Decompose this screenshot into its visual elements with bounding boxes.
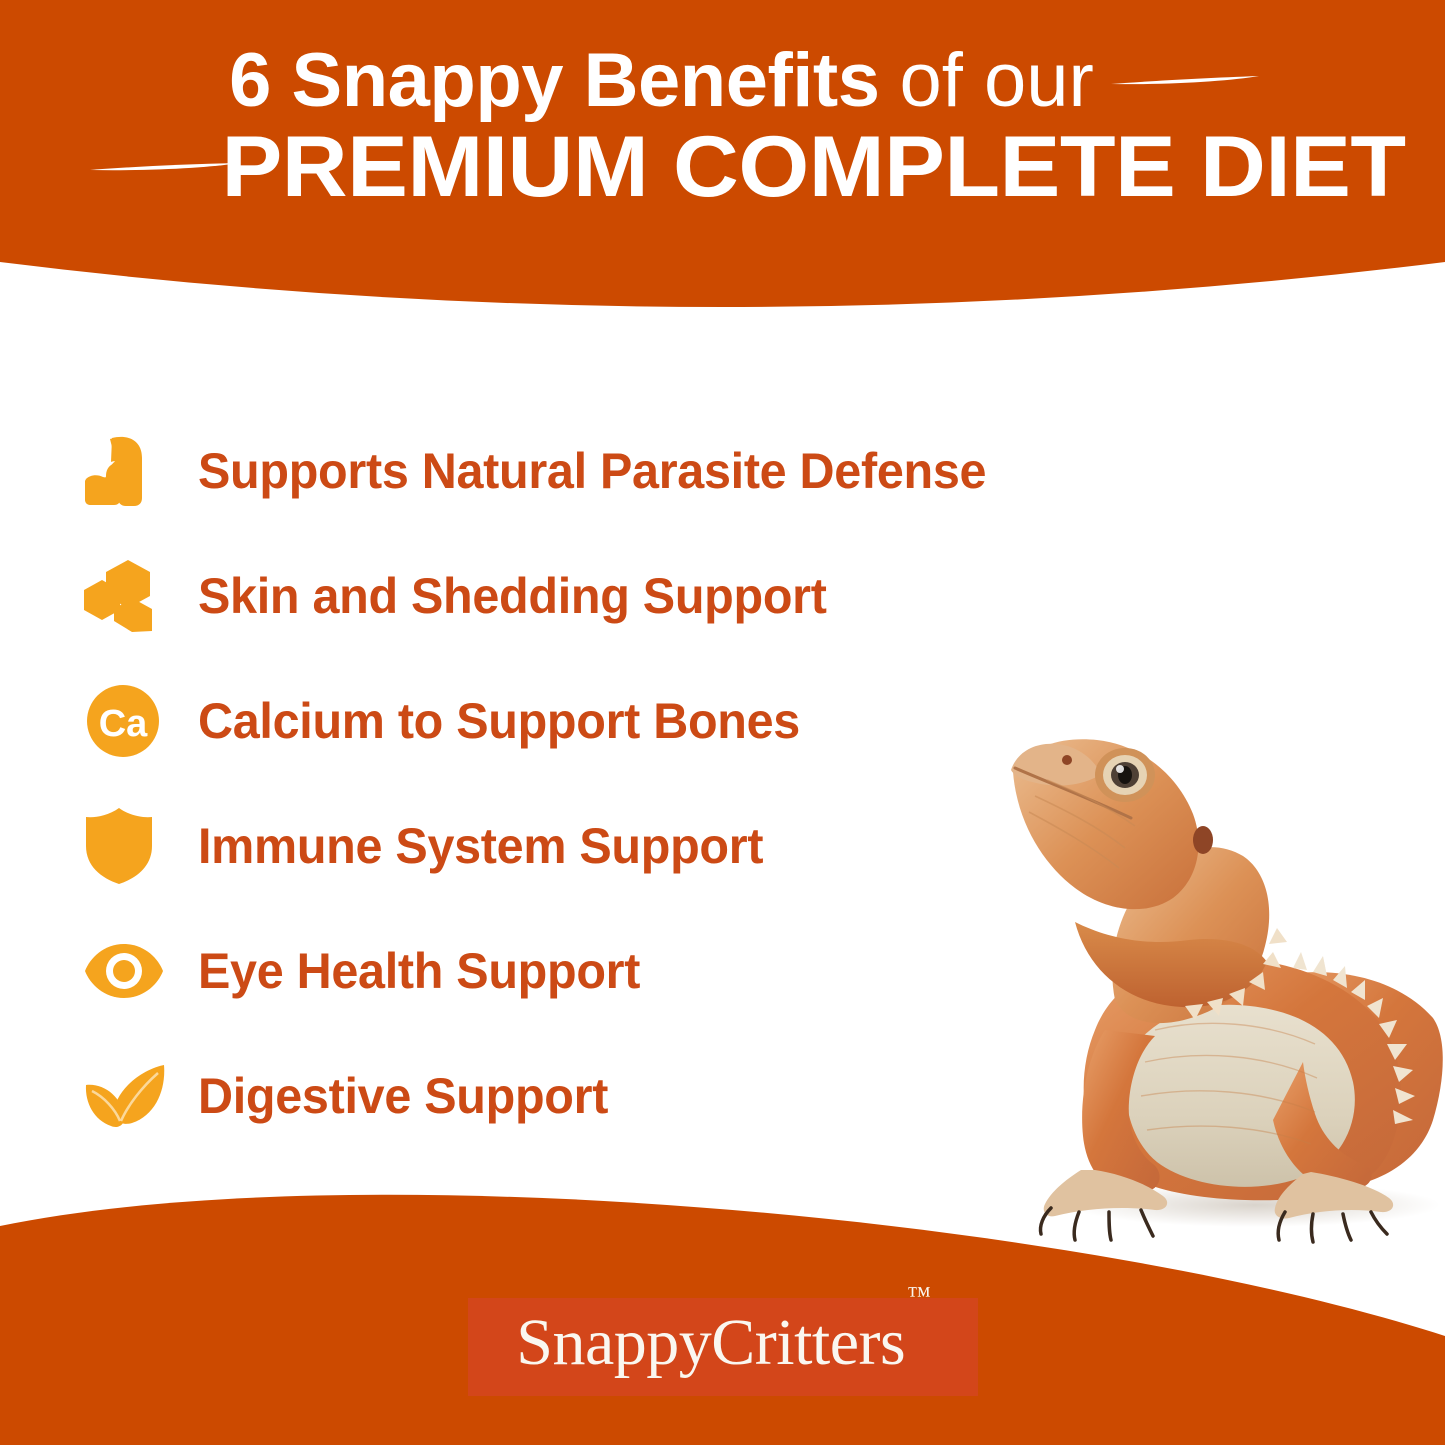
benefit-item-digestive: Digestive Support (84, 1033, 1214, 1158)
benefit-item-parasite-defense: Supports Natural Parasite Defense (84, 408, 1214, 533)
honeycomb-hexagons-icon (84, 558, 176, 634)
brand-name-text: SnappyCritters (516, 1305, 905, 1381)
benefit-label: Eye Health Support (198, 942, 640, 1000)
headline-light-part: of our (900, 42, 1094, 120)
shield-icon (84, 806, 176, 886)
header-banner: 6 Snappy Benefits of our PREMIUM COMPLET… (0, 0, 1445, 345)
trademark-symbol: ™ (907, 1283, 931, 1310)
benefits-list: Supports Natural Parasite Defense Skin a… (84, 408, 1214, 1158)
footer-banner: SnappyCritters™ (0, 1180, 1445, 1445)
benefit-label: Skin and Shedding Support (198, 567, 827, 625)
eye-icon (84, 942, 176, 1000)
benefit-label: Supports Natural Parasite Defense (198, 442, 986, 500)
headline-line-2: PREMIUM COMPLETE DIET (0, 124, 1445, 212)
benefit-item-skin-shedding: Skin and Shedding Support (84, 533, 1214, 658)
benefit-item-eye-health: Eye Health Support (84, 908, 1214, 1033)
benefit-item-calcium: Ca Calcium to Support Bones (84, 658, 1214, 783)
infographic-page: 6 Snappy Benefits of our PREMIUM COMPLET… (0, 0, 1445, 1445)
headline-bold-part: 6 Snappy Benefits (229, 42, 879, 120)
headline-block: 6 Snappy Benefits of our PREMIUM COMPLET… (0, 0, 1445, 280)
leaves-icon (84, 1063, 176, 1129)
calcium-symbol-text: Ca (99, 703, 148, 745)
headline-product-name: PREMIUM COMPLETE DIET (221, 124, 1405, 212)
brand-logo[interactable]: SnappyCritters™ (0, 1180, 1445, 1445)
calcium-circle-icon: Ca (84, 682, 176, 760)
brush-dash-icon (89, 161, 239, 173)
benefit-item-immune-system: Immune System Support (84, 783, 1214, 908)
flexed-bicep-icon (84, 435, 176, 507)
benefit-label: Immune System Support (198, 817, 763, 875)
brush-dash-icon (1110, 75, 1260, 87)
headline-line-1: 6 Snappy Benefits of our (0, 42, 1445, 120)
benefit-label: Calcium to Support Bones (198, 692, 800, 750)
benefit-label: Digestive Support (198, 1067, 608, 1125)
